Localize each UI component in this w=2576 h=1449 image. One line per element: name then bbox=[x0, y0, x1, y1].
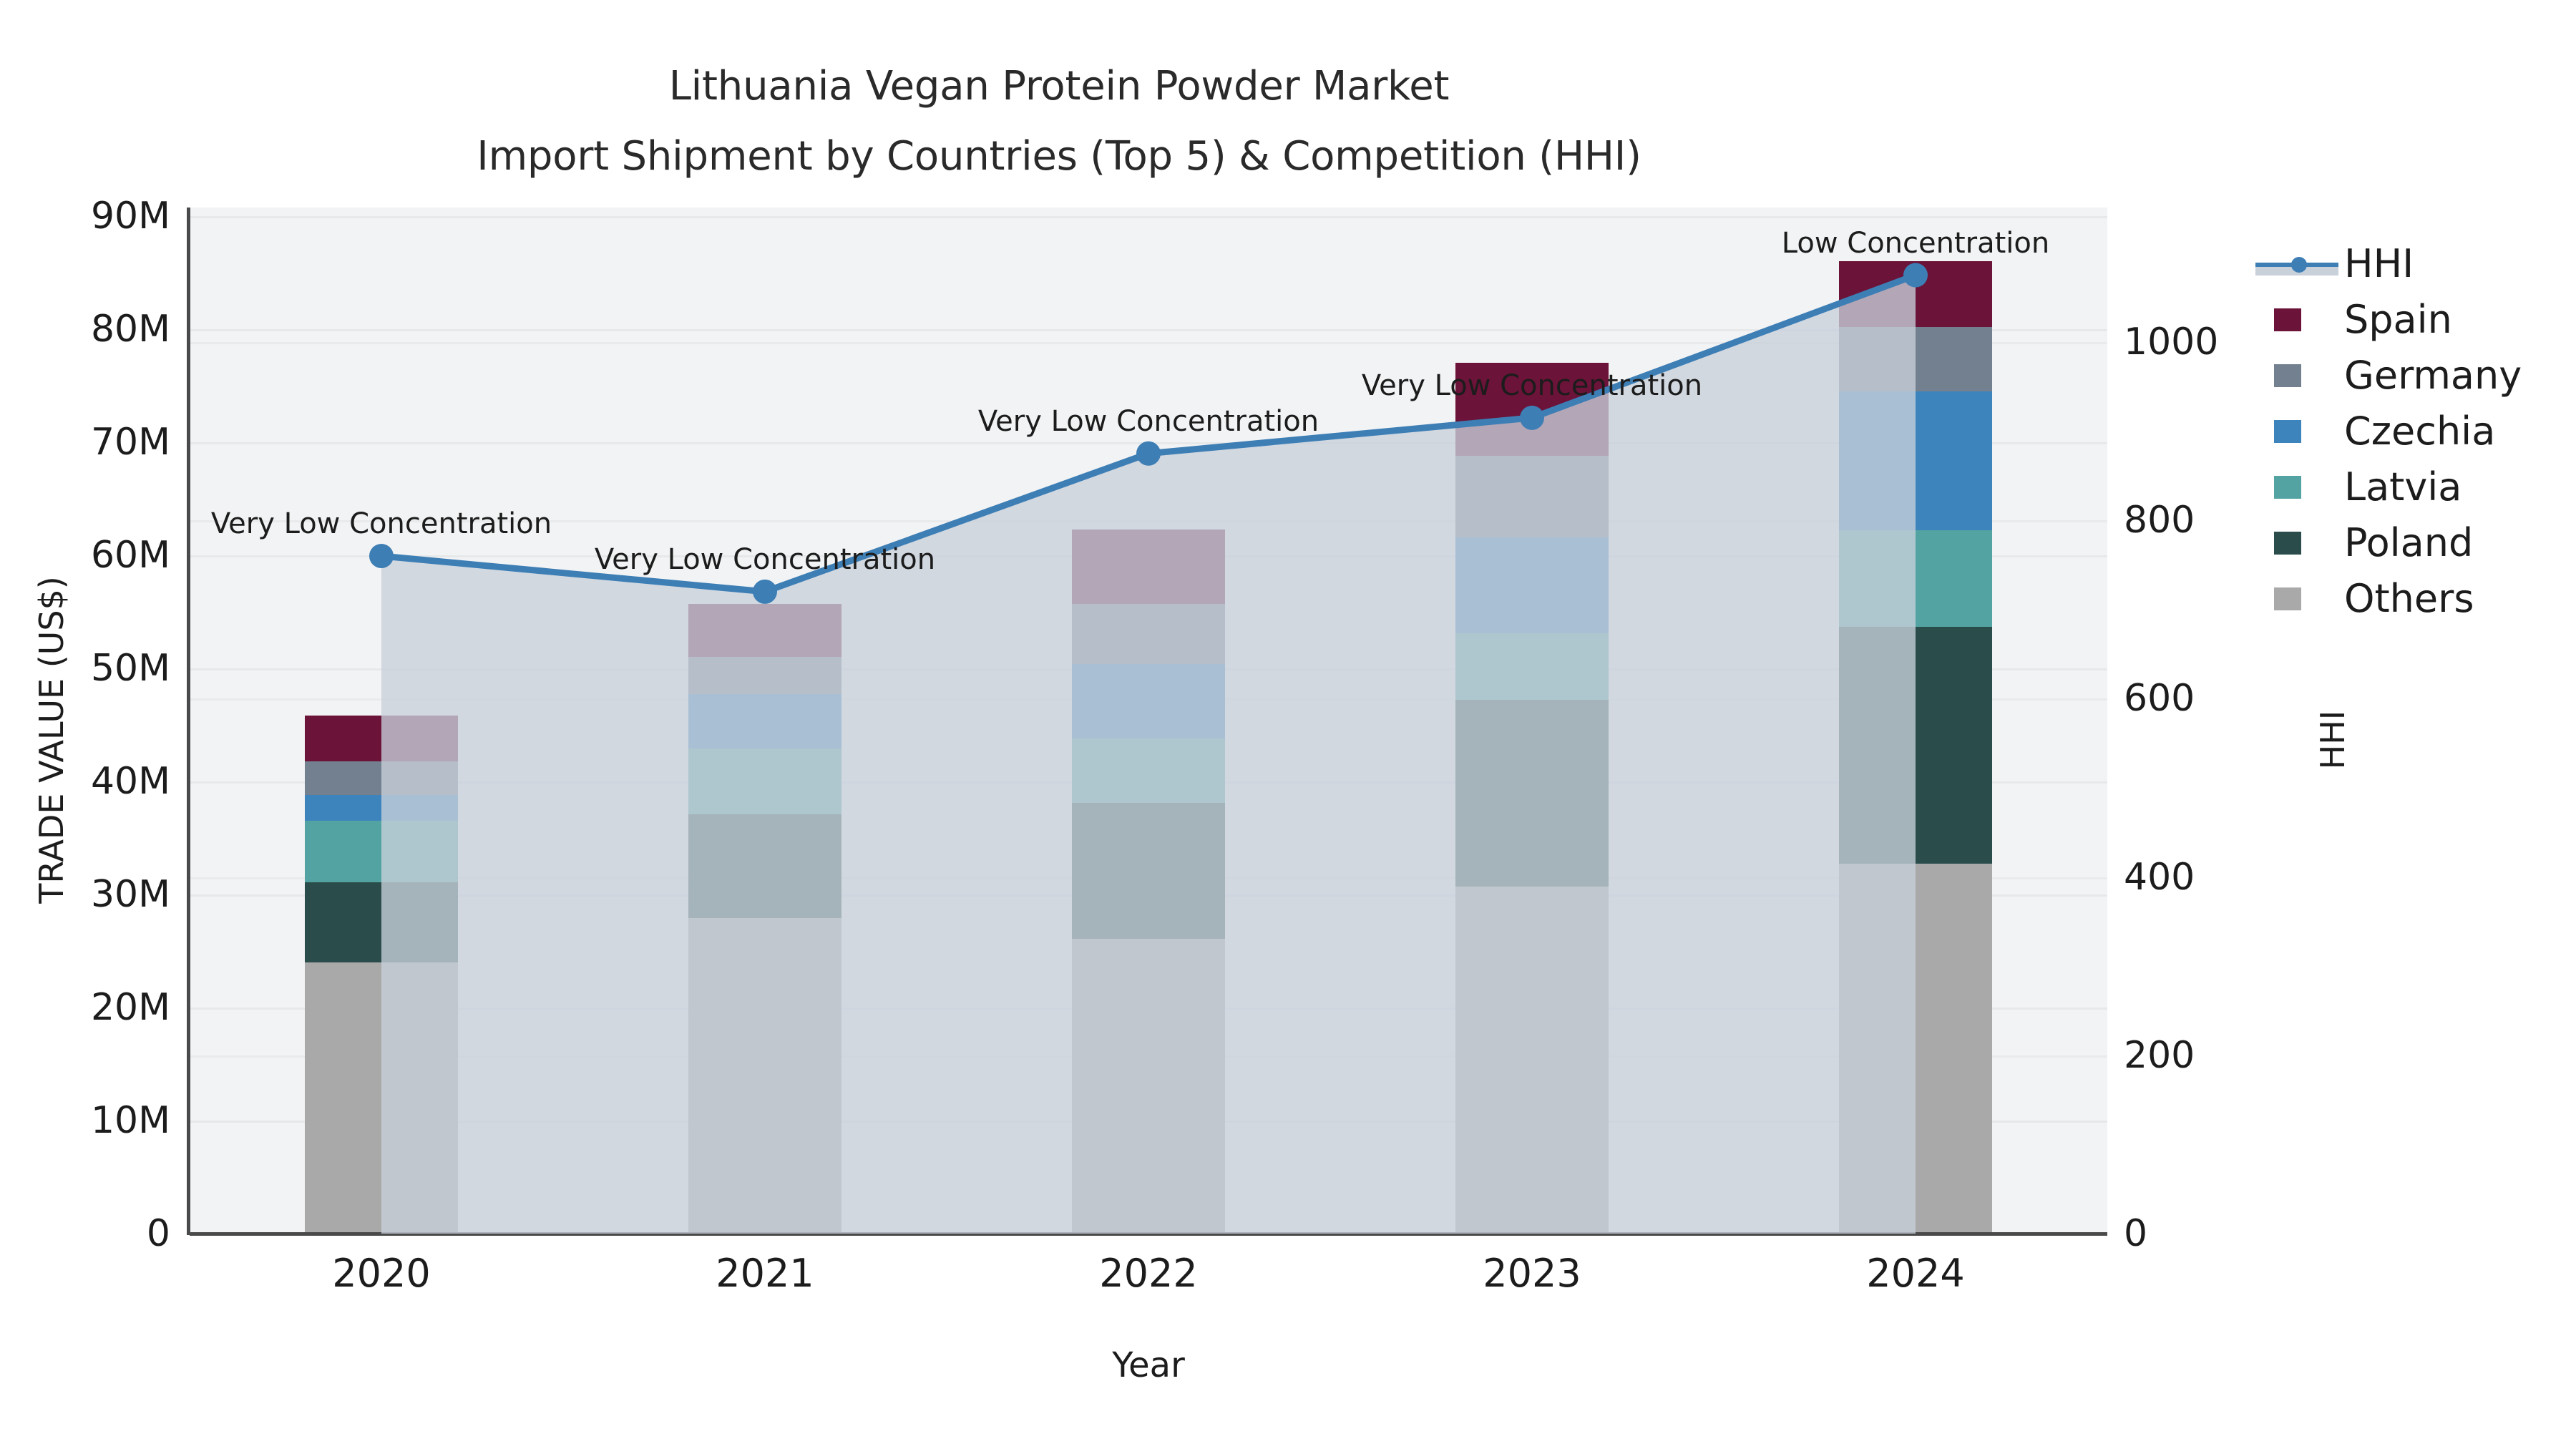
plot-area bbox=[190, 208, 2107, 1234]
bar-segment-germany bbox=[688, 657, 841, 694]
left-axis-tick: 20M bbox=[0, 986, 170, 1029]
bar-segment-others bbox=[688, 918, 841, 1234]
legend-key bbox=[2254, 248, 2340, 280]
bar-segment-latvia bbox=[1839, 530, 1992, 626]
right-axis-tick: 600 bbox=[2124, 677, 2296, 720]
annotation-label: Low Concentration bbox=[1782, 227, 2049, 260]
left-axis-tick: 10M bbox=[0, 1099, 170, 1142]
bar-segment-germany bbox=[1072, 604, 1225, 664]
x-axis-baseline bbox=[190, 1232, 2107, 1236]
legend-swatch bbox=[2274, 532, 2301, 555]
legend-key bbox=[2254, 471, 2340, 504]
bar-segment-czechia bbox=[305, 795, 458, 821]
left-axis-spine bbox=[187, 208, 190, 1235]
x-axis-tick: 2020 bbox=[267, 1251, 496, 1296]
x-axis-tick: 2023 bbox=[1418, 1251, 1646, 1296]
left-axis-tick: 60M bbox=[0, 534, 170, 577]
bar-segment-others bbox=[1072, 939, 1225, 1234]
bar-segment-others bbox=[1839, 864, 1992, 1234]
right-axis-tick: 400 bbox=[2124, 856, 2296, 899]
legend-swatch bbox=[2274, 476, 2301, 499]
bar-segment-poland bbox=[1839, 627, 1992, 864]
bar-segment-poland bbox=[1072, 803, 1225, 939]
bar-segment-poland bbox=[1455, 700, 1609, 887]
legend-item-poland[interactable]: Poland bbox=[2254, 515, 2569, 571]
left-axis-tick: 80M bbox=[0, 308, 170, 351]
left-axis-tick: 50M bbox=[0, 647, 170, 690]
left-axis-title: TRADE VALUE (US$) bbox=[32, 525, 71, 955]
bar-segment-spain bbox=[305, 716, 458, 761]
right-axis-tick: 200 bbox=[2124, 1034, 2296, 1077]
bar-segment-spain bbox=[1839, 261, 1992, 327]
bar-segment-latvia bbox=[688, 748, 841, 814]
legend-item-label: Poland bbox=[2340, 524, 2473, 562]
bar-segment-latvia bbox=[1072, 738, 1225, 803]
legend-item-label: HHI bbox=[2340, 245, 2414, 283]
right-axis-title: HHI bbox=[2313, 597, 2352, 883]
bar-segment-latvia bbox=[1455, 633, 1609, 700]
legend-swatch bbox=[2274, 587, 2301, 610]
bar-segment-czechia bbox=[1072, 664, 1225, 738]
legend-item-label: Germany bbox=[2340, 356, 2522, 395]
legend-swatch bbox=[2274, 364, 2301, 387]
left-axis-tick: 0 bbox=[0, 1212, 170, 1255]
gridline bbox=[190, 342, 2107, 344]
bar-segment-latvia bbox=[305, 821, 458, 882]
legend-item-latvia[interactable]: Latvia bbox=[2254, 459, 2569, 515]
left-axis-tick: 70M bbox=[0, 421, 170, 464]
bar-segment-czechia bbox=[1839, 391, 1992, 530]
chart-legend: HHISpainGermanyCzechiaLatviaPolandOthers bbox=[2254, 236, 2569, 627]
legend-item-label: Spain bbox=[2340, 301, 2452, 339]
gridline bbox=[190, 216, 2107, 218]
left-axis-tick: 90M bbox=[0, 195, 170, 238]
bar-segment-poland bbox=[305, 882, 458, 962]
legend-marker-dot bbox=[2291, 257, 2307, 273]
annotation-label: Very Low Concentration bbox=[978, 405, 1319, 438]
x-axis-tick: 2021 bbox=[650, 1251, 879, 1296]
legend-item-czechia[interactable]: Czechia bbox=[2254, 404, 2569, 459]
bar-segment-others bbox=[1455, 887, 1609, 1234]
gridline bbox=[190, 442, 2107, 444]
annotation-label: Very Low Concentration bbox=[211, 507, 552, 540]
legend-swatch bbox=[2274, 420, 2301, 443]
bar-segment-germany bbox=[1455, 456, 1609, 537]
legend-item-hhi[interactable]: HHI bbox=[2254, 236, 2569, 292]
legend-item-label: Latvia bbox=[2340, 468, 2462, 507]
x-axis-title: Year bbox=[190, 1345, 2107, 1385]
legend-key bbox=[2254, 415, 2340, 448]
legend-item-label: Czechia bbox=[2340, 412, 2495, 451]
bar-segment-spain bbox=[688, 604, 841, 657]
legend-item-spain[interactable]: Spain bbox=[2254, 292, 2569, 348]
legend-swatch bbox=[2274, 308, 2301, 331]
bar-segment-germany bbox=[305, 761, 458, 795]
legend-key bbox=[2254, 303, 2340, 336]
bar-segment-czechia bbox=[1455, 537, 1609, 633]
x-axis-tick: 2022 bbox=[1034, 1251, 1263, 1296]
chart-figure: 010M20M30M40M50M60M70M80M90M 02004006008… bbox=[0, 0, 2576, 1449]
left-axis-tick: 30M bbox=[0, 873, 170, 916]
legend-key bbox=[2254, 359, 2340, 392]
right-axis-tick: 0 bbox=[2124, 1212, 2296, 1255]
legend-key bbox=[2254, 527, 2340, 560]
bar-segment-czechia bbox=[688, 694, 841, 748]
legend-item-others[interactable]: Others bbox=[2254, 571, 2569, 627]
bar-segment-spain bbox=[1072, 530, 1225, 604]
legend-item-germany[interactable]: Germany bbox=[2254, 348, 2569, 404]
bar-segment-germany bbox=[1839, 327, 1992, 391]
x-axis-tick: 2024 bbox=[1801, 1251, 2030, 1296]
bar-segment-others bbox=[305, 962, 458, 1234]
legend-item-label: Others bbox=[2340, 580, 2474, 618]
gridline bbox=[190, 329, 2107, 331]
annotation-label: Very Low Concentration bbox=[595, 543, 935, 576]
left-axis-tick: 40M bbox=[0, 760, 170, 803]
annotation-label: Very Low Concentration bbox=[1362, 369, 1702, 402]
bar-segment-poland bbox=[688, 814, 841, 918]
legend-key bbox=[2254, 582, 2340, 615]
